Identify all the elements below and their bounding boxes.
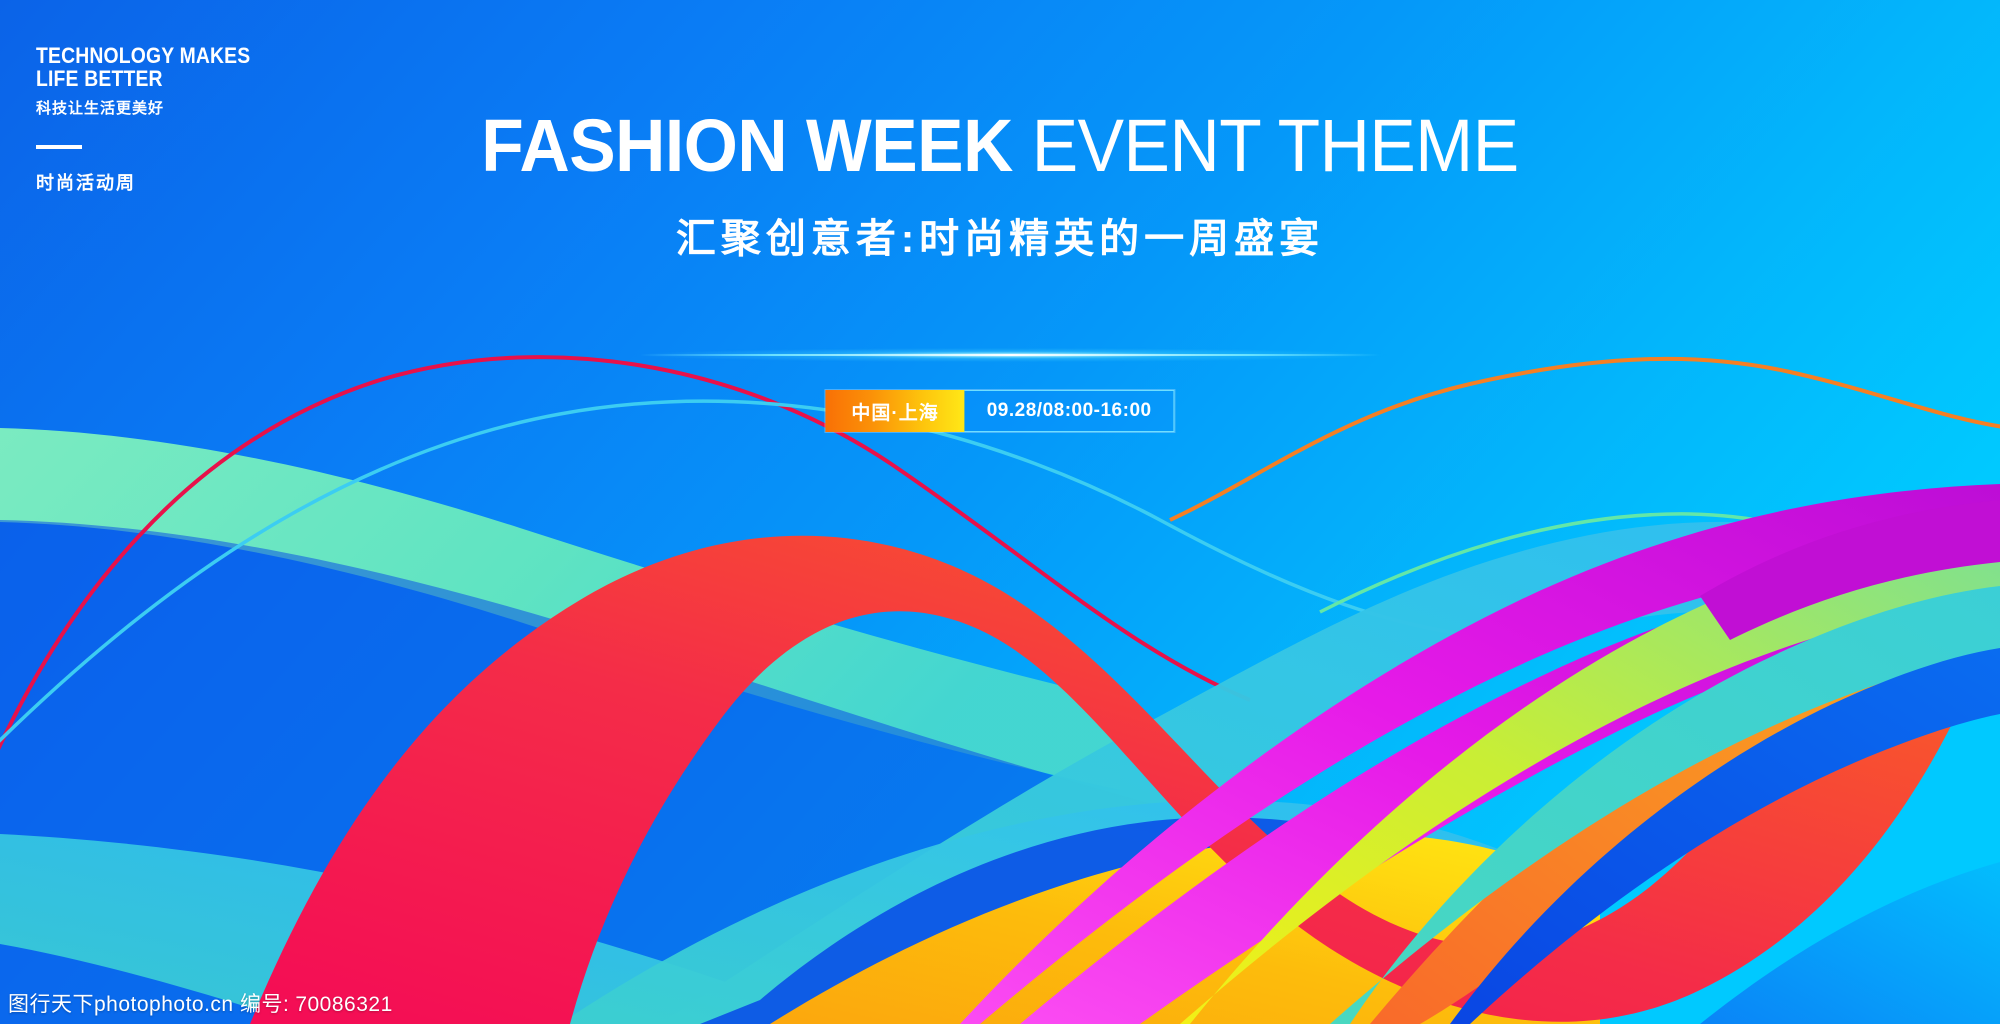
badge-datetime: 09.28/08:00-16:00 [965, 390, 1175, 432]
title-bold-part: FASHION WEEK [481, 104, 1013, 187]
watermark-id-label: 编号: [240, 993, 289, 1016]
poster-canvas: TECHNOLOGY MAKES LIFE BETTER 科技让生活更美好 时尚… [0, 0, 2000, 1024]
headline-block: FASHION WEEK EVENT THEME 汇聚创意者:时尚精英的一周盛宴 [0, 108, 2000, 264]
subtitle-cn: 汇聚创意者:时尚精英的一周盛宴 [0, 206, 2000, 264]
brand-en-line1: TECHNOLOGY MAKES [36, 44, 250, 67]
event-info-badge: 中国·上海 09.28/08:00-16:00 [825, 390, 1174, 432]
watermark: 图行天下photophoto.cn 编号:70086321 [8, 988, 393, 1018]
badge-city: 中国·上海 [825, 390, 964, 432]
brand-en-line2: LIFE BETTER [36, 67, 250, 90]
title-light-part: EVENT THEME [1032, 104, 1519, 187]
watermark-site: 图行天下photophoto.cn [8, 993, 234, 1016]
page-title: FASHION WEEK EVENT THEME [60, 108, 1940, 184]
watermark-id-value: 70086321 [295, 993, 392, 1016]
